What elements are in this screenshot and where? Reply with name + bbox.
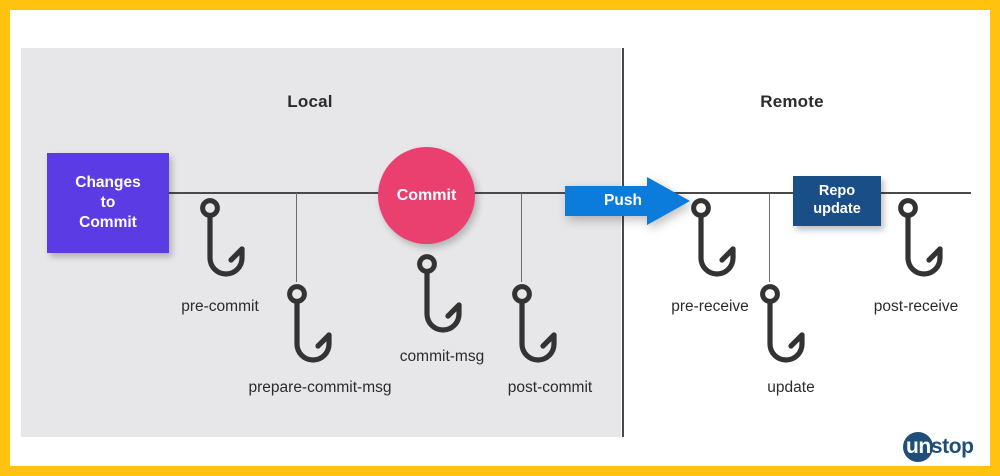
changes-line-3: Commit — [75, 213, 140, 233]
changes-to-commit-box[interactable]: Changes to Commit — [47, 153, 169, 253]
hook-label-commit-msg: commit-msg — [400, 348, 484, 366]
repo-line-1: Repo — [813, 183, 861, 201]
changes-line-2: to — [75, 193, 140, 213]
connector-prepare-commit-msg — [296, 193, 297, 282]
connector-update — [769, 193, 770, 282]
push-arrow[interactable]: Push — [565, 177, 690, 225]
hook-label-post-receive: post-receive — [874, 298, 958, 316]
diagram-canvas: Local Remote Changes to Commit Commit Pu… — [0, 0, 1000, 476]
hook-label-post-commit: post-commit — [508, 379, 592, 397]
hook-label-prepare-commit-msg: prepare-commit-msg — [249, 379, 392, 397]
repo-line-2: update — [813, 201, 861, 219]
hook-pre-receive[interactable] — [686, 196, 746, 291]
unstop-logo[interactable]: un stop — [903, 432, 990, 462]
hook-prepare-commit-msg[interactable] — [282, 282, 342, 377]
hook-post-commit[interactable] — [507, 282, 567, 377]
push-arrow-label: Push — [587, 177, 659, 225]
hook-commit-msg[interactable] — [412, 252, 472, 347]
remote-section-title: Remote — [760, 92, 824, 112]
local-remote-divider — [622, 48, 624, 437]
changes-line-1: Changes — [75, 173, 140, 193]
hook-pre-commit[interactable] — [195, 196, 255, 291]
repo-update-box[interactable]: Repo update — [793, 176, 881, 226]
connector-post-commit — [521, 193, 522, 282]
hook-post-receive[interactable] — [893, 196, 953, 291]
hook-label-pre-commit: pre-commit — [181, 298, 259, 316]
commit-node-label: Commit — [397, 187, 457, 205]
hook-label-pre-receive: pre-receive — [671, 298, 749, 316]
hook-label-update: update — [767, 379, 814, 397]
diagram-inner: Local Remote Changes to Commit Commit Pu… — [10, 10, 990, 466]
unstop-wordmark: un stop — [903, 432, 990, 462]
unstop-logo-part-1: un — [903, 435, 931, 459]
local-section-title: Local — [287, 92, 332, 112]
hook-update[interactable] — [755, 282, 815, 377]
commit-node[interactable]: Commit — [378, 147, 475, 244]
unstop-logo-part-2: stop — [931, 435, 974, 459]
